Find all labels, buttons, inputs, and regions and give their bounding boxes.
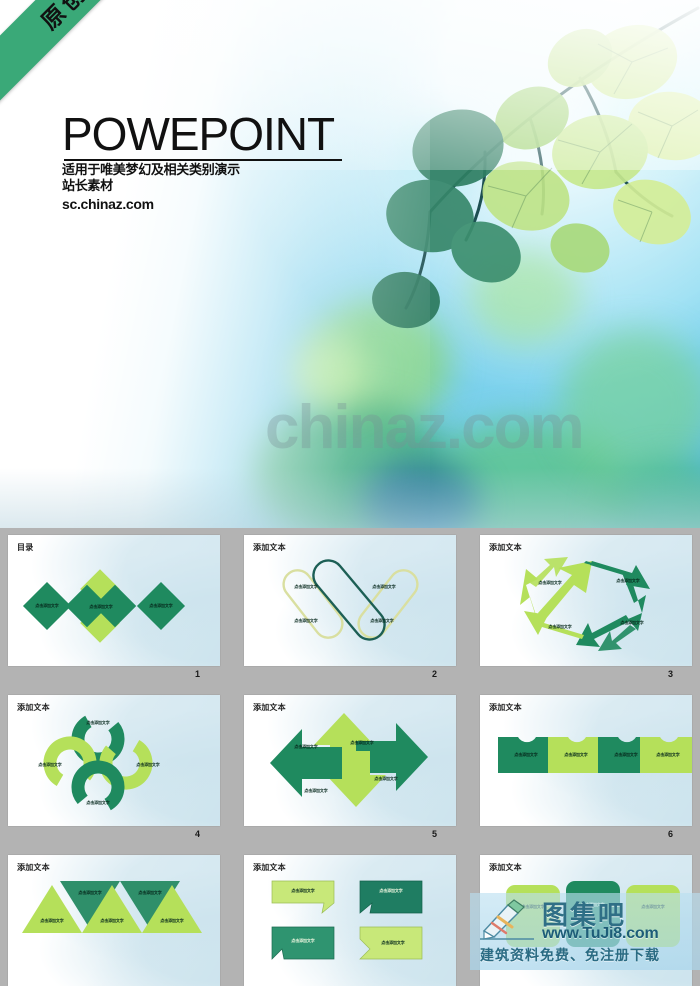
slide-thumbnail-6[interactable]: 添加文本 点击添加文字 点击添加文字 点击添加文字 点击添加文字: [480, 695, 692, 826]
notched-blocks-diagram: [480, 695, 692, 826]
slide-shape-label: 点击添加文字: [294, 744, 317, 750]
slide-shape-label: 点击添加文字: [291, 938, 314, 944]
hero-banner: chinaz.com 原创 POWEPOINT 适用于唯美梦幻及相关类别演示 站…: [0, 0, 700, 528]
slide-title: 添加文本: [253, 542, 286, 553]
slide-thumbnail-2[interactable]: 添加文本 点击添加文字 点击添加文字 点击添加文字 点击添加文字: [244, 535, 456, 666]
slide-shape-label: 点击添加文字: [100, 918, 123, 924]
slide-shape-label: 点击添加文字: [294, 618, 317, 624]
slide-shape-label: 点击添加文字: [38, 762, 61, 768]
slide-title: 添加文本: [253, 862, 286, 873]
slide-title: 添加文本: [17, 702, 50, 713]
slide-shape-label: 点击添加文字: [514, 752, 537, 758]
slide-shape-label: 点击添加文字: [379, 888, 402, 894]
slide-number: 1: [195, 669, 200, 679]
slide-number: 5: [432, 829, 437, 839]
callout-bubbles-diagram: [244, 855, 456, 986]
slide-shape-label: 点击添加文字: [35, 603, 58, 609]
slide-thumbnail-3[interactable]: 添加文本 点击添加文字 点击添加文字 点击添加文字 点击添加文字: [480, 535, 692, 666]
page-title: POWEPOINT: [62, 112, 342, 157]
slide-shape-label: 点击添加文字: [350, 740, 373, 746]
slide-shape-label: 点击添加文字: [548, 624, 571, 630]
slide-number: 4: [195, 829, 200, 839]
slide-shape-label: 点击添加文字: [294, 584, 317, 590]
slide-thumbnail-7[interactable]: 添加文本 点击添加文字 点击添加文字 点击添加文字 点击添加文字 点击添加文字: [8, 855, 220, 986]
slide-number: 6: [668, 829, 673, 839]
slide-thumbnail-4[interactable]: 添加文本 点击添加文字 点击添加文字 点击添加文字 点击添加文字: [8, 695, 220, 826]
slide-shape-label: 点击添加文字: [614, 752, 637, 758]
slide-title: 添加文本: [489, 702, 522, 713]
slide-shape-label: 点击添加文字: [620, 620, 643, 626]
slide-shape-label: 点击添加文字: [381, 940, 404, 946]
slide-title: 目录: [17, 542, 33, 553]
slide-title: 添加文本: [253, 702, 286, 713]
title-site-url: sc.chinaz.com: [62, 196, 342, 212]
slide-shape-label: 点击添加文字: [656, 752, 679, 758]
slide-number: 3: [668, 669, 673, 679]
slide-shape-label: 点击添加文字: [86, 800, 109, 806]
title-block: POWEPOINT 适用于唯美梦幻及相关类别演示 站长素材 sc.chinaz.…: [62, 112, 342, 212]
slide-title: 添加文本: [489, 542, 522, 553]
diamond-row-diagram: [8, 535, 220, 666]
slide-shape-label: 点击添加文字: [40, 918, 63, 924]
slide-shape-label: 点击添加文字: [616, 578, 639, 584]
slide-thumbnail-8[interactable]: 添加文本 点击添加文字 点击添加文字 点击添加文字 点击添加文字: [244, 855, 456, 986]
title-subtitle-line1: 适用于唯美梦幻及相关类别演示: [62, 163, 342, 179]
slide-shape-label: 点击添加文字: [78, 890, 101, 896]
slide-shape-label: 点击添加文字: [538, 580, 561, 586]
watermark-tagline: 建筑资料免费、免注册下载: [480, 945, 660, 965]
slide-shape-label: 点击添加文字: [86, 720, 109, 726]
slide-shape-label: 点击添加文字: [370, 618, 393, 624]
slide-shape-label: 点击添加文字: [136, 762, 159, 768]
slide-title: 添加文本: [17, 862, 50, 873]
pen-drawing-icon: [478, 897, 536, 941]
slide-shape-label: 点击添加文字: [374, 776, 397, 782]
slide-thumbnail-5[interactable]: 添加文本 点击添加文字 点击添加文字 点击添加文字 点击添加文字: [244, 695, 456, 826]
slide-title: 添加文本: [489, 862, 522, 873]
slide-shape-label: 点击添加文字: [89, 604, 112, 610]
slide-thumbnail-1[interactable]: 目录 点击添加文字 点击添加文字 点击添加文字: [8, 535, 220, 666]
slide-shape-label: 点击添加文字: [149, 603, 172, 609]
slide-shape-label: 点击添加文字: [304, 788, 327, 794]
four-arrows-diagram: [244, 695, 456, 826]
slide-shape-label: 点击添加文字: [372, 584, 395, 590]
slide-shape-label: 点击添加文字: [138, 890, 161, 896]
hero-bottom-fade: [0, 468, 700, 528]
slide-number: 2: [432, 669, 437, 679]
crossed-loops-diagram: [244, 535, 456, 666]
watermark-url: www.TuJi8.com: [542, 925, 659, 943]
tuji8-watermark-overlay: 图集吧 www.TuJi8.com 建筑资料免费、免注册下载: [470, 893, 700, 970]
interlocking-rings-diagram: [8, 695, 220, 826]
title-subtitle-line2: 站长素材: [62, 179, 342, 195]
slide-shape-label: 点击添加文字: [564, 752, 587, 758]
slide-shape-label: 点击添加文字: [160, 918, 183, 924]
slide-shape-label: 点击添加文字: [291, 888, 314, 894]
cycle-arrows-diagram: [480, 535, 692, 666]
